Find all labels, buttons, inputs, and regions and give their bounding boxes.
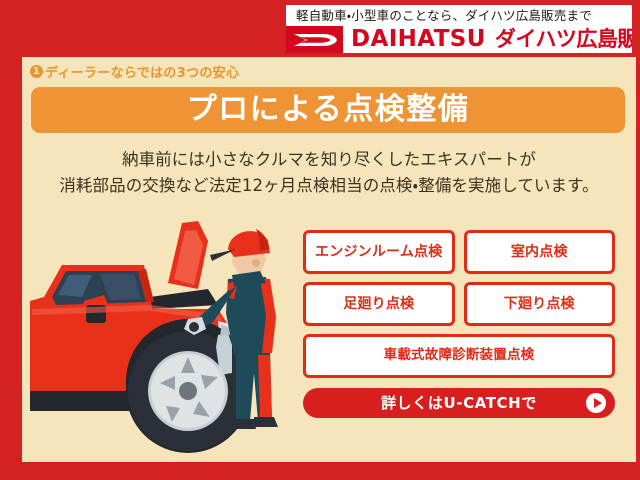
body-copy: 納車前には小さなクルマを知り尽くしたエキスパートが 消耗部品の交換など法定12ヶ… [22, 147, 636, 199]
cta-button-u-catch[interactable]: 詳しくはU-CATCHで [303, 388, 615, 418]
inspection-button-interior[interactable]: 室内点検 [464, 230, 616, 274]
body-line-1: 納車前には小さなクルマを知り尽くしたエキスパートが [22, 147, 636, 173]
play-circle-icon [586, 393, 606, 413]
inspection-button-engine-room[interactable]: エンジンルーム点検 [303, 230, 455, 274]
brand-japanese-name: ダイハツ広島販売 [495, 29, 632, 50]
section-label: 1 ディーラーならではの3つの安心 [30, 62, 239, 81]
advertisement-screen: 軽自動車・小型車のことなら、ダイハツ広島販売まで DAIHATSU ダイハツ広島… [0, 0, 640, 480]
inspection-row-2: 足廻り点検 下廻り点検 [303, 282, 615, 326]
inspection-label-underbody: 下廻り点検 [504, 297, 575, 311]
inspection-label-suspension: 足廻り点検 [343, 297, 414, 311]
brand-logo-row: DAIHATSU ダイハツ広島販売 [286, 26, 632, 53]
inspection-button-suspension[interactable]: 足廻り点検 [303, 282, 455, 326]
mechanic-inspecting-car-illustration [22, 205, 322, 462]
inspection-button-underbody[interactable]: 下廻り点検 [464, 282, 616, 326]
content-panel: 1 ディーラーならではの3つの安心 プロによる点検整備 納車前には小さなクルマを… [22, 57, 636, 462]
inspection-label-obd-diagnostics: 車載式故障診断装置点検 [384, 349, 535, 363]
brand-latin-name: DAIHATSU [351, 28, 486, 51]
headline-text: プロによる点検整備 [187, 95, 470, 125]
section-label-text: ディーラーならではの3つの安心 [45, 62, 239, 81]
inspection-label-engine-room: エンジンルーム点検 [315, 245, 442, 259]
inspection-row-3: 車載式故障診断装置点検 [303, 334, 615, 378]
inspection-row-1: エンジンルーム点検 室内点検 [303, 230, 615, 274]
inspection-items-group: エンジンルーム点検 室内点検 足廻り点検 下廻り点検 車載式故障診断装置点検 [303, 230, 615, 418]
brand-header-box: 軽自動車・小型車のことなら、ダイハツ広島販売まで DAIHATSU ダイハツ広島… [286, 5, 632, 53]
header-tagline: 軽自動車・小型車のことなら、ダイハツ広島販売まで [296, 8, 592, 24]
section-number-badge: 1 [30, 65, 43, 78]
daihatsu-d-mark-icon [286, 26, 343, 53]
body-line-2: 消耗部品の交換など法定12ヶ月点検相当の点検・整備を実施しています。 [22, 173, 636, 199]
headline-banner: プロによる点検整備 [31, 87, 625, 133]
inspection-button-obd-diagnostics[interactable]: 車載式故障診断装置点検 [303, 334, 615, 378]
cta-label: 詳しくはU-CATCHで [381, 396, 537, 411]
header-bar: 軽自動車・小型車のことなら、ダイハツ広島販売まで DAIHATSU ダイハツ広島… [0, 0, 640, 57]
inspection-label-interior: 室内点検 [511, 245, 568, 259]
